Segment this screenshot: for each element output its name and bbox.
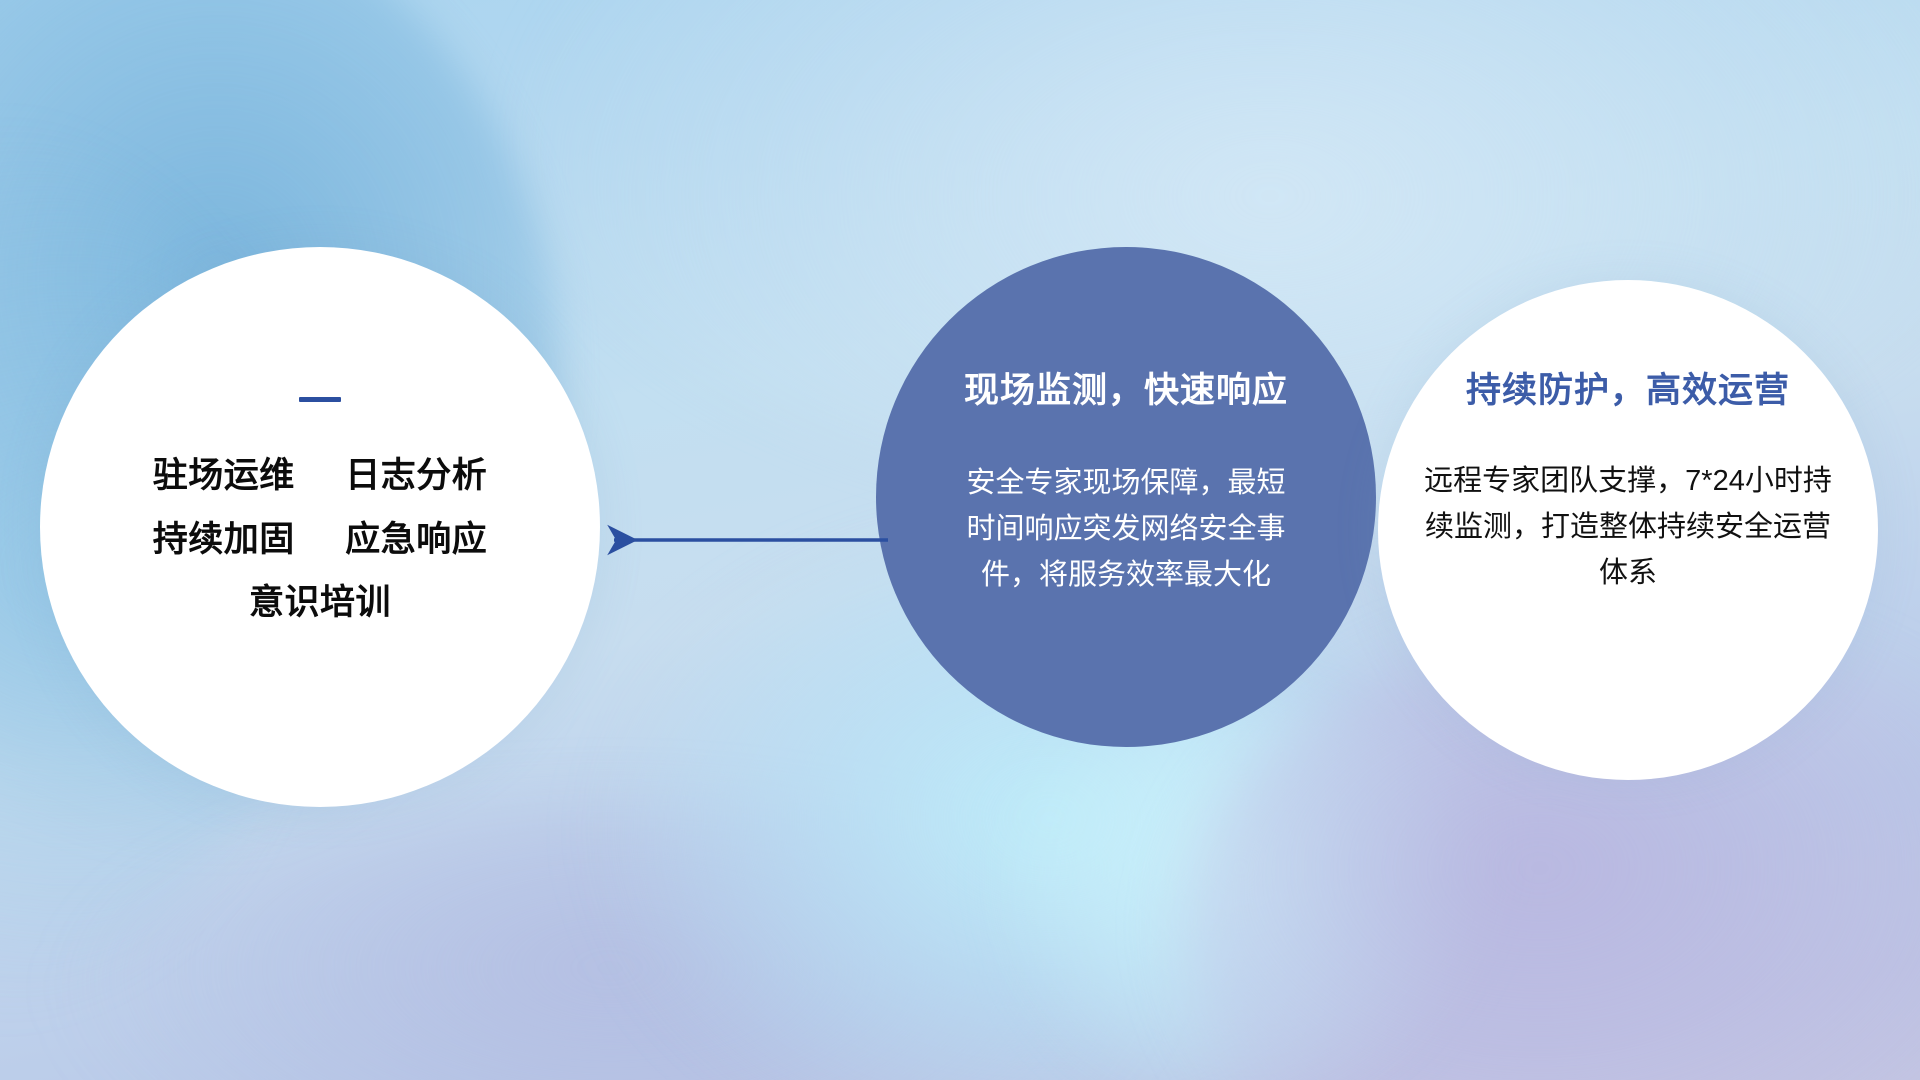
left-pointing-arrow <box>600 520 890 560</box>
capability-label: 应急响应 <box>345 520 487 559</box>
capability-label: 意识培训 <box>249 583 391 622</box>
continuous-protection-title: 持续防护，高效运营 <box>1466 362 1790 413</box>
divider-dash-icon <box>299 397 341 402</box>
continuous-protection-circle[interactable]: 持续防护，高效运营 远程专家团队支撑，7*24小时持续监测，打造整体持续安全运营… <box>1378 280 1878 780</box>
capability-label: 驻场运维 <box>153 456 295 495</box>
onsite-monitoring-body: 安全专家现场保障，最短时间响应突发网络安全事件，将服务效率最大化 <box>961 461 1291 598</box>
onsite-monitoring-title: 现场监测，快速响应 <box>964 362 1288 413</box>
capabilities-row-3: 意识培训 <box>153 571 488 635</box>
capabilities-circle[interactable]: 驻场运维 日志分析 持续加固 应急响应 意识培训 <box>40 247 600 807</box>
capabilities-row-2: 持续加固 应急响应 <box>153 508 488 572</box>
onsite-monitoring-circle[interactable]: 现场监测，快速响应 安全专家现场保障，最短时间响应突发网络安全事件，将服务效率最… <box>876 247 1376 747</box>
capability-label: 日志分析 <box>345 456 487 495</box>
capabilities-row-1: 驻场运维 日志分析 <box>153 444 488 508</box>
capability-label: 持续加固 <box>153 520 295 559</box>
continuous-protection-body: 远程专家团队支撑，7*24小时持续监测，打造整体持续安全运营体系 <box>1418 459 1838 596</box>
capabilities-list: 驻场运维 日志分析 持续加固 应急响应 意识培训 <box>153 444 488 635</box>
